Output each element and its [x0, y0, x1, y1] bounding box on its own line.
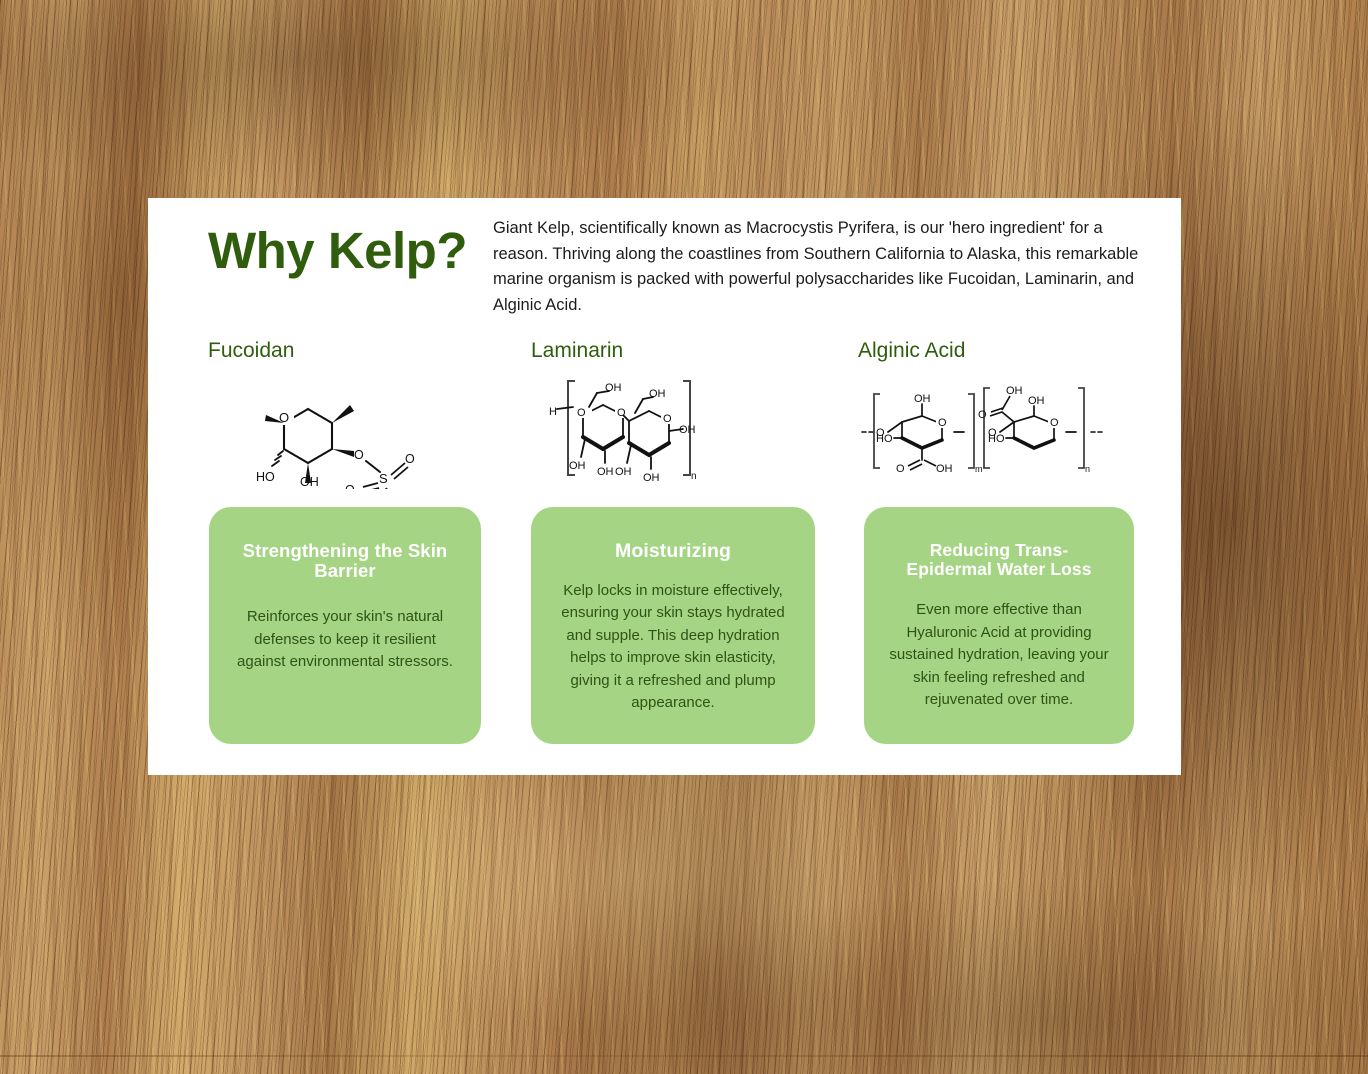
ingredient-name-alginic-acid: Alginic Acid	[858, 338, 1158, 363]
intro-paragraph: Giant Kelp, scientifically known as Macr…	[493, 216, 1153, 318]
svg-text:O: O	[978, 409, 987, 421]
svg-text:O: O	[663, 413, 672, 425]
svg-text:OH: OH	[1006, 385, 1023, 397]
svg-text:O: O	[345, 483, 355, 489]
ingredient-name-fucoidan: Fucoidan	[208, 338, 508, 363]
svg-text:OH: OH	[914, 393, 931, 405]
svg-text:H: H	[549, 406, 557, 418]
svg-text:HO: HO	[988, 433, 1005, 445]
benefit-card-title: Moisturizing	[555, 541, 791, 562]
svg-text:OH: OH	[649, 388, 666, 400]
content-panel: Why Kelp? Giant Kelp, scientifically kno…	[148, 198, 1181, 775]
header-section: Why Kelp? Giant Kelp, scientifically kno…	[148, 198, 1181, 326]
svg-text:OH: OH	[597, 466, 614, 478]
svg-text:OH: OH	[569, 460, 586, 472]
alginic-acid-molecule-icon: m n O O	[860, 380, 1104, 480]
benefit-card-title: Reducing Trans-Epidermal Water Loss	[888, 541, 1110, 578]
benefit-card-title: Strengthening the Skin Barrier	[233, 541, 457, 580]
svg-text:O: O	[279, 410, 289, 425]
svg-text:O: O	[1050, 417, 1059, 429]
structure-wrap-laminarin: n O O	[531, 371, 831, 489]
svg-text:OH: OH	[679, 424, 696, 436]
svg-text:O: O	[354, 448, 364, 462]
svg-text:O: O	[938, 417, 947, 429]
svg-text:OH: OH	[1028, 395, 1045, 407]
benefit-card[interactable]: Moisturizing Kelp locks in moisture effe…	[531, 507, 815, 744]
structure-wrap-fucoidan: O HO OH O S	[208, 371, 508, 489]
ingredient-column-laminarin: Laminarin n O	[531, 338, 831, 489]
svg-text:m: m	[975, 464, 983, 474]
page-title: Why Kelp?	[208, 223, 508, 279]
svg-text:OH: OH	[936, 463, 953, 475]
ingredient-column-fucoidan: Fucoidan O	[208, 338, 508, 489]
svg-text:OH: OH	[615, 466, 632, 478]
svg-text:O: O	[577, 407, 586, 419]
svg-text:OH: OH	[300, 475, 319, 489]
svg-text:HO: HO	[876, 433, 893, 445]
svg-text:OH: OH	[605, 382, 622, 394]
benefit-card-body: Even more effective than Hyaluronic Acid…	[888, 599, 1110, 712]
svg-text:S: S	[379, 471, 388, 486]
benefit-card-body: Reinforces your skin's natural defenses …	[233, 606, 457, 674]
benefit-card[interactable]: Reducing Trans-Epidermal Water Loss Even…	[864, 507, 1134, 744]
ingredient-name-laminarin: Laminarin	[531, 338, 831, 363]
structure-wrap-alginic-acid: m n O O	[858, 371, 1158, 489]
svg-text:HO: HO	[256, 470, 275, 484]
laminarin-molecule-icon: n O O	[549, 371, 709, 489]
fucoidan-molecule-icon: O HO OH O S	[250, 371, 425, 489]
svg-text:n: n	[1085, 464, 1090, 474]
svg-text:n: n	[691, 471, 697, 482]
svg-text:O: O	[896, 463, 905, 475]
benefit-card[interactable]: Strengthening the Skin Barrier Reinforce…	[209, 507, 481, 744]
ingredient-column-alginic-acid: Alginic Acid m n O	[858, 338, 1158, 489]
benefit-card-body: Kelp locks in moisture effectively, ensu…	[555, 580, 791, 715]
svg-text:OH: OH	[643, 472, 660, 484]
svg-text:O: O	[405, 452, 415, 466]
